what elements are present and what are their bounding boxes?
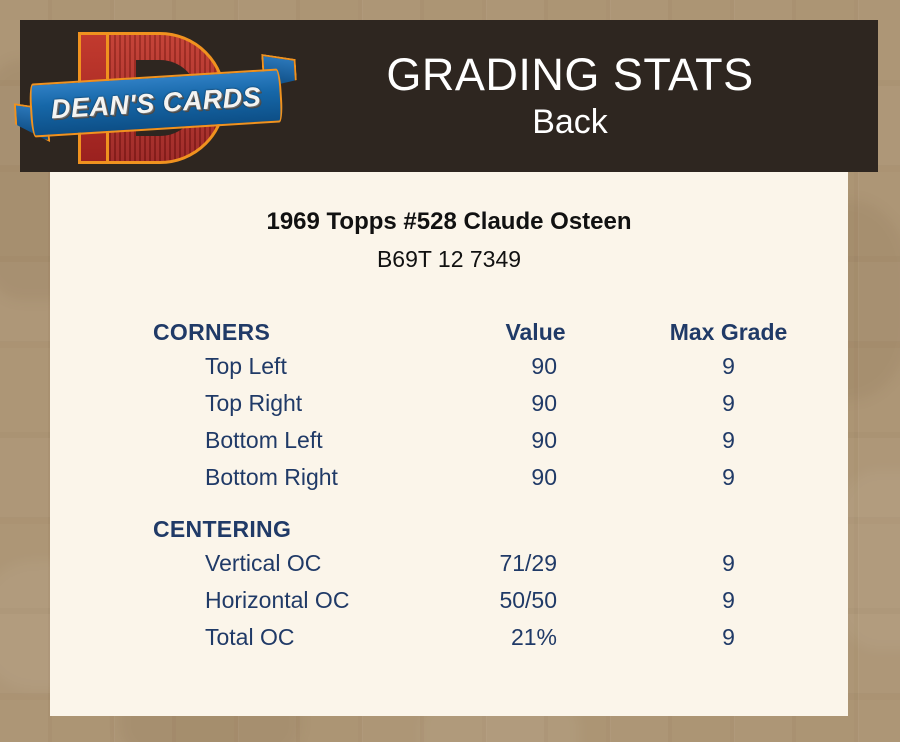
stat-label: Top Right bbox=[50, 385, 450, 422]
section-header-row: CORNERSValueMax Grade bbox=[50, 313, 848, 348]
page-title: GRADING STATS bbox=[292, 49, 848, 101]
column-header-max-grade bbox=[630, 510, 848, 545]
column-header-value: Value bbox=[450, 313, 630, 348]
table-row: Horizontal OC50/509 bbox=[50, 582, 848, 619]
stat-max-grade: 9 bbox=[630, 619, 848, 656]
deans-cards-logo[interactable]: DEAN'S CARDS bbox=[20, 20, 292, 172]
stat-value: 71/29 bbox=[450, 545, 630, 582]
table-row: Top Right909 bbox=[50, 385, 848, 422]
table-row: Bottom Right909 bbox=[50, 459, 848, 496]
stat-value: 21% bbox=[450, 619, 630, 656]
header-bar: DEAN'S CARDS GRADING STATS Back bbox=[20, 20, 878, 172]
grading-stats-table: CORNERSValueMax GradeTop Left909Top Righ… bbox=[50, 313, 848, 656]
stat-max-grade: 9 bbox=[630, 459, 848, 496]
card-serial-number: B69T 12 7349 bbox=[50, 246, 848, 273]
logo-ribbon-banner: DEAN'S CARDS bbox=[29, 68, 284, 137]
stat-label: Bottom Left bbox=[50, 422, 450, 459]
section-header-row: CENTERING bbox=[50, 510, 848, 545]
stat-max-grade: 9 bbox=[630, 545, 848, 582]
stat-value: 90 bbox=[450, 348, 630, 385]
logo-brand-text: DEAN'S CARDS bbox=[29, 68, 284, 137]
stat-max-grade: 9 bbox=[630, 422, 848, 459]
content-panel: 1969 Topps #528 Claude Osteen B69T 12 73… bbox=[50, 172, 848, 716]
table-row: Top Left909 bbox=[50, 348, 848, 385]
stat-label: Vertical OC bbox=[50, 545, 450, 582]
header-titles: GRADING STATS Back bbox=[292, 49, 878, 143]
stat-value: 90 bbox=[450, 459, 630, 496]
stat-max-grade: 9 bbox=[630, 385, 848, 422]
stat-value: 90 bbox=[450, 385, 630, 422]
stat-label: Top Left bbox=[50, 348, 450, 385]
table-row: Vertical OC71/299 bbox=[50, 545, 848, 582]
stat-value: 50/50 bbox=[450, 582, 630, 619]
stat-max-grade: 9 bbox=[630, 582, 848, 619]
table-spacer-row bbox=[50, 496, 848, 510]
stat-label: Horizontal OC bbox=[50, 582, 450, 619]
stat-label: Bottom Right bbox=[50, 459, 450, 496]
stat-label: Total OC bbox=[50, 619, 450, 656]
stat-max-grade: 9 bbox=[630, 348, 848, 385]
section-title: CENTERING bbox=[50, 510, 450, 545]
column-header-value bbox=[450, 510, 630, 545]
table-row: Bottom Left909 bbox=[50, 422, 848, 459]
page-subtitle: Back bbox=[292, 101, 848, 143]
section-title: CORNERS bbox=[50, 313, 450, 348]
column-header-max-grade: Max Grade bbox=[630, 313, 848, 348]
table-row: Total OC21%9 bbox=[50, 619, 848, 656]
stat-value: 90 bbox=[450, 422, 630, 459]
card-title: 1969 Topps #528 Claude Osteen bbox=[50, 208, 848, 236]
